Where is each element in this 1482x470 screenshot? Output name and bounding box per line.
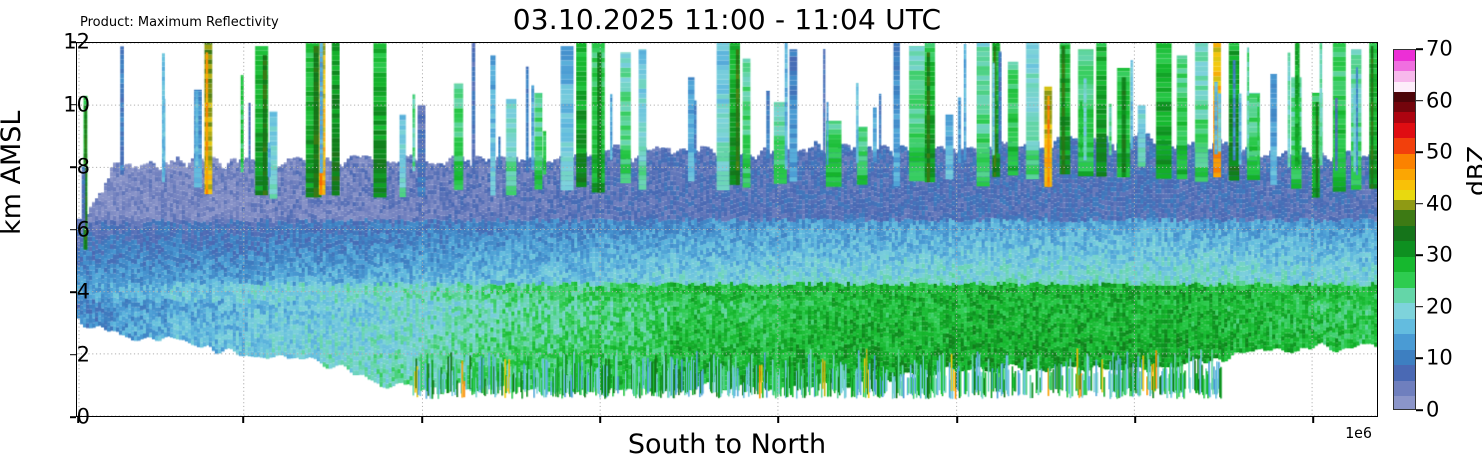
colorbar-band	[1394, 71, 1415, 82]
colorbar-band	[1394, 349, 1415, 365]
colorbar-tick-mark	[1416, 203, 1423, 205]
colorbar-band	[1394, 60, 1415, 71]
colorbar-tick-label: 50	[1426, 142, 1453, 163]
colorbar-band	[1394, 396, 1415, 410]
colorbar-tick-label: 70	[1426, 39, 1453, 60]
colorbar-band	[1394, 91, 1415, 102]
colorbar-band	[1394, 318, 1415, 334]
y-tick-label: 6	[77, 219, 90, 240]
page-title: 03.10.2025 11:00 - 11:04 UTC	[76, 4, 1378, 36]
y-axis-label: km AMSL	[0, 111, 27, 235]
colorbar-tick-mark	[1416, 100, 1423, 102]
colorbar-label: dBZ	[1462, 146, 1482, 196]
colorbar-tick-label: 40	[1426, 193, 1453, 214]
colorbar-tick-label: 0	[1426, 400, 1439, 421]
colorbar-band	[1394, 334, 1415, 350]
x-tick-mark	[1134, 417, 1136, 423]
colorbar-band	[1394, 189, 1415, 200]
colorbar-band	[1394, 200, 1415, 211]
reflectivity-heatmap	[77, 43, 1377, 416]
x-tick-mark	[777, 417, 779, 423]
y-tick-mark	[70, 416, 76, 418]
colorbar-tick-mark	[1416, 409, 1423, 411]
x-tick-mark	[956, 417, 958, 423]
colorbar-band	[1394, 138, 1415, 154]
colorbar-band	[1394, 210, 1415, 226]
colorbar-band	[1394, 241, 1415, 257]
colorbar-band	[1394, 112, 1415, 123]
colorbar-band	[1394, 122, 1415, 138]
y-tick-mark	[70, 354, 76, 356]
colorbar-band	[1394, 225, 1415, 241]
colorbar-tick-mark	[1416, 254, 1423, 256]
colorbar-tick-mark	[1416, 151, 1423, 153]
radar-cross-section-figure: Product: Maximum Reflectivity 03.10.2025…	[0, 0, 1482, 470]
colorbar-band	[1394, 169, 1415, 180]
y-tick-label: 2	[77, 344, 90, 365]
y-tick-label: 8	[77, 157, 90, 178]
colorbar-band	[1394, 380, 1415, 396]
colorbar-band	[1394, 179, 1415, 190]
y-tick-label: 12	[63, 32, 90, 53]
x-tick-mark	[421, 417, 423, 423]
colorbar-band	[1394, 256, 1415, 272]
colorbar-tick-label: 10	[1426, 348, 1453, 369]
colorbar-tick-mark	[1416, 48, 1423, 50]
y-tick-mark	[70, 229, 76, 231]
colorbar	[1393, 49, 1416, 410]
x-axis-label: South to North	[76, 429, 1378, 461]
y-tick-label: 10	[63, 94, 90, 115]
colorbar-band	[1394, 81, 1415, 92]
colorbar-band	[1394, 287, 1415, 303]
x-tick-mark	[77, 417, 79, 423]
colorbar-tick-label: 20	[1426, 296, 1453, 317]
plot-area	[76, 42, 1378, 417]
colorbar-tick-label: 30	[1426, 245, 1453, 266]
colorbar-tick-label: 60	[1426, 90, 1453, 111]
x-tick-mark	[1312, 417, 1314, 423]
x-tick-mark	[242, 417, 244, 423]
colorbar-tick-mark	[1416, 358, 1423, 360]
y-tick-mark	[70, 166, 76, 168]
colorbar-band	[1394, 272, 1415, 288]
colorbar-band	[1394, 153, 1415, 169]
colorbar-band	[1394, 102, 1415, 113]
y-tick-label: 4	[77, 282, 90, 303]
x-axis-offset-text: 1e6	[1345, 424, 1372, 442]
colorbar-tick-mark	[1416, 306, 1423, 308]
x-tick-mark	[599, 417, 601, 423]
colorbar-band	[1394, 50, 1415, 61]
colorbar-band	[1394, 365, 1415, 381]
colorbar-band	[1394, 303, 1415, 319]
y-tick-mark	[70, 291, 76, 293]
